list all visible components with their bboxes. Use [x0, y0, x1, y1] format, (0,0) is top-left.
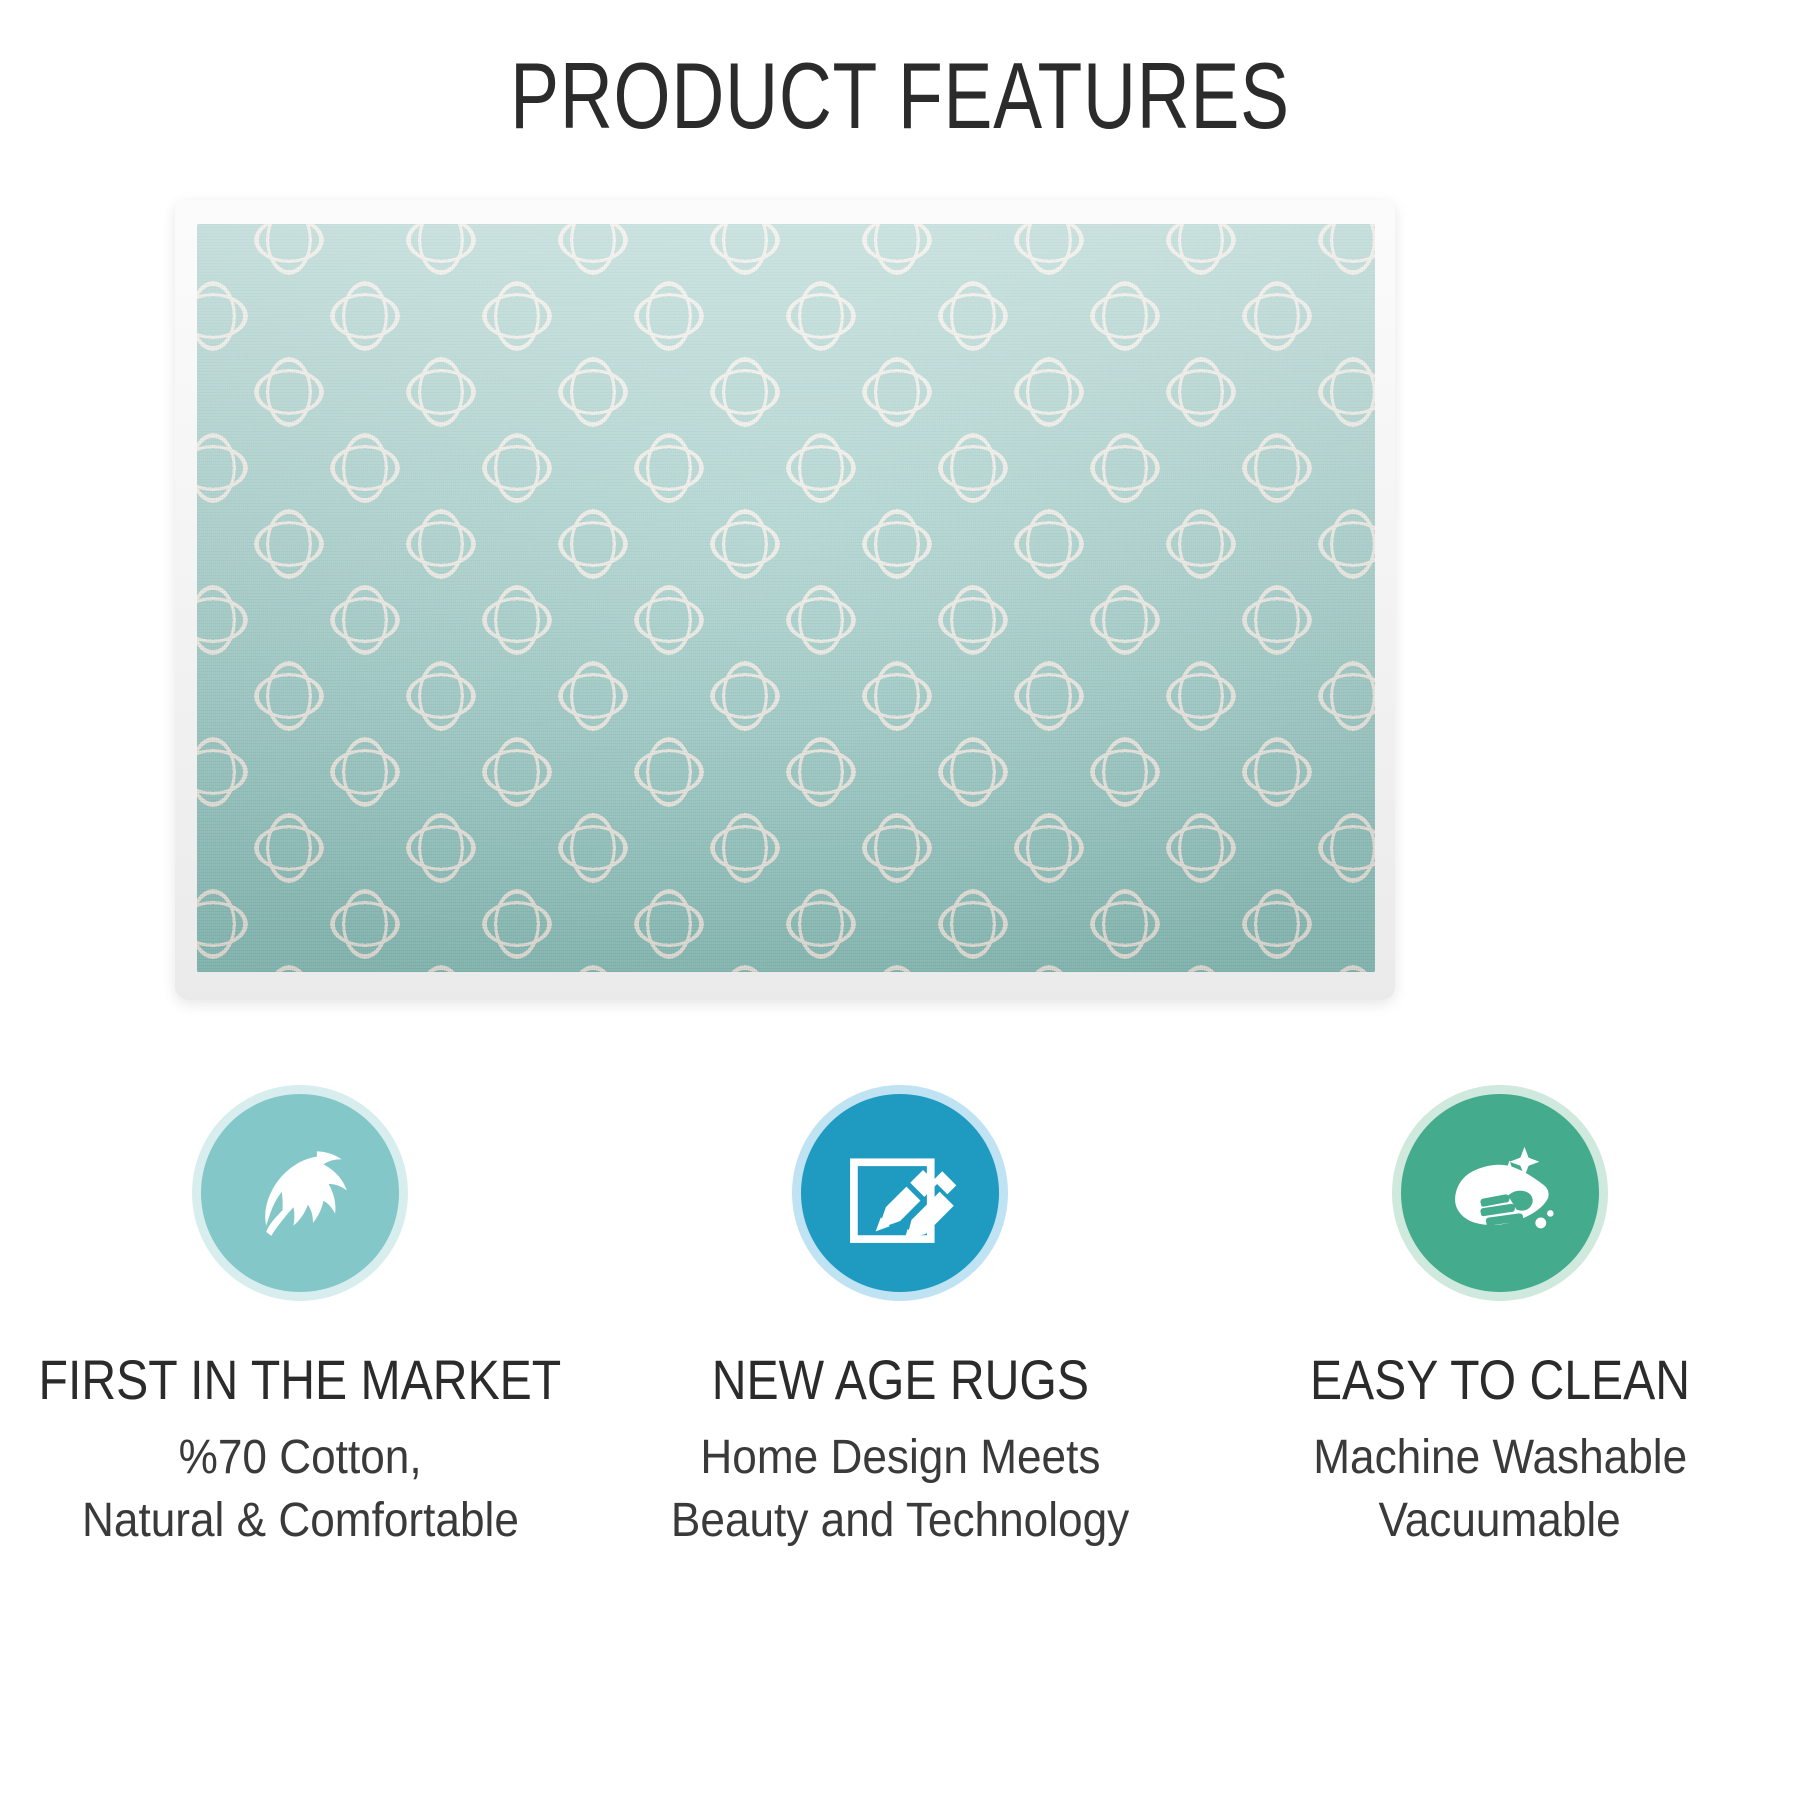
feature-subtitle-line-1: Home Design Meets [700, 1426, 1100, 1489]
feature-title: EASY TO CLEAN [1310, 1347, 1690, 1412]
feature-subtitle-line-1: Machine Washable [1313, 1426, 1687, 1489]
rug-field [197, 224, 1375, 972]
product-image [175, 200, 1395, 1000]
features-row: FIRST IN THE MARKET %70 Cotton, Natural … [0, 1085, 1800, 1553]
cleaning-badge [1392, 1085, 1608, 1301]
feather-badge [192, 1085, 408, 1301]
feature-item: FIRST IN THE MARKET %70 Cotton, Natural … [0, 1085, 600, 1553]
feature-subtitle-line-1: %70 Cotton, [178, 1426, 421, 1489]
feature-item: EASY TO CLEAN Machine Washable Vacuumabl… [1200, 1085, 1800, 1553]
page-title: PRODUCT FEATURES [198, 42, 1602, 150]
feature-title: NEW AGE RUGS [711, 1347, 1088, 1412]
feature-item: NEW AGE RUGS Home Design Meets Beauty an… [600, 1085, 1200, 1553]
feature-title: FIRST IN THE MARKET [39, 1347, 562, 1412]
feature-subtitle-line-2: Natural & Comfortable [82, 1489, 519, 1552]
feather-icon [235, 1128, 365, 1258]
feature-subtitle-line-2: Beauty and Technology [671, 1489, 1129, 1552]
feature-subtitle-line-2: Vacuumable [1379, 1489, 1621, 1552]
cleaning-hand-sparkle-icon [1432, 1125, 1568, 1261]
rug-border [175, 200, 1395, 1000]
design-pen-pencil-icon [836, 1129, 964, 1257]
design-badge [792, 1085, 1008, 1301]
rug-pattern-grid-b [197, 224, 1375, 972]
